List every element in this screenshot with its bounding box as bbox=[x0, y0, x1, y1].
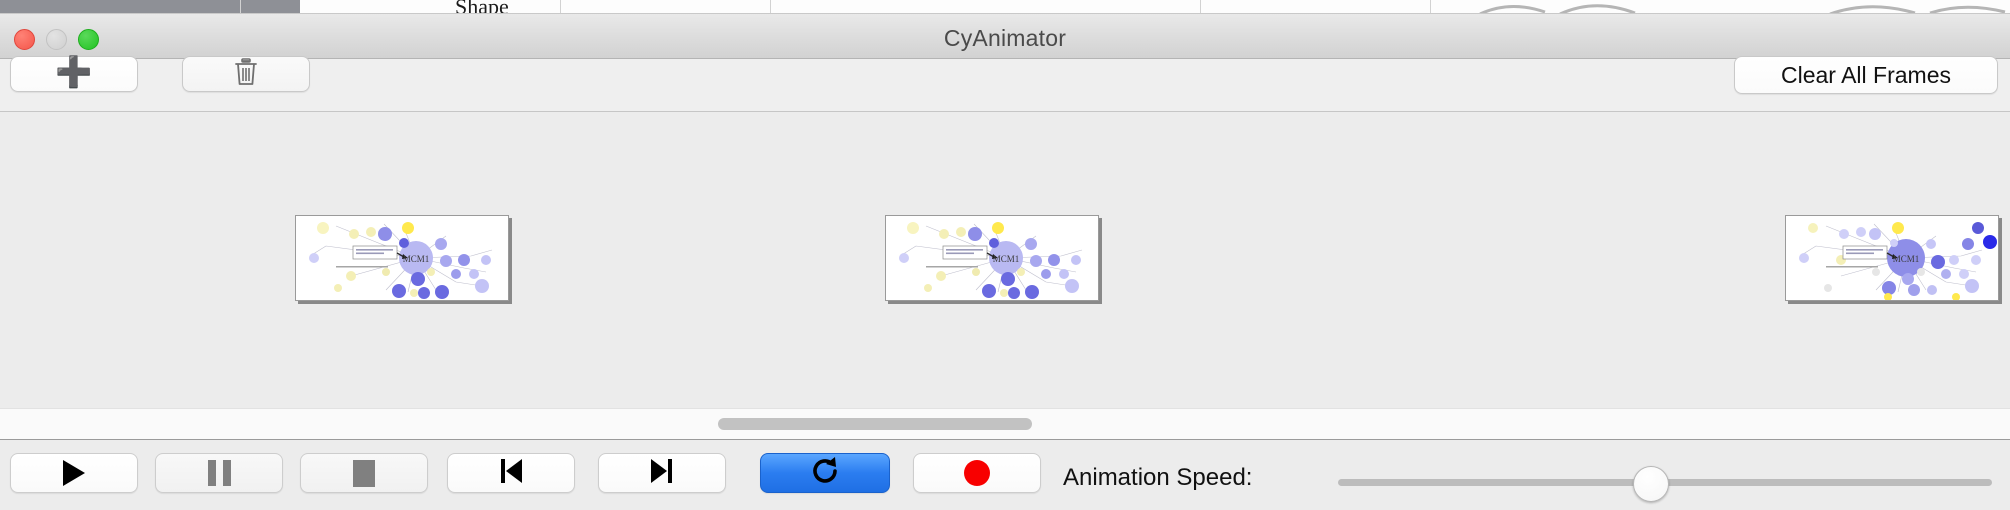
skip-end-icon bbox=[649, 457, 675, 490]
animation-speed-slider-knob[interactable] bbox=[1633, 466, 1669, 502]
playback-controls: Animation Speed: bbox=[0, 440, 2010, 510]
frame-thumbnail[interactable]: MCM1 bbox=[885, 215, 1099, 301]
stop-icon bbox=[353, 460, 375, 487]
timeline-scrollbar[interactable] bbox=[0, 408, 2010, 441]
delete-frame-button[interactable] bbox=[182, 56, 310, 92]
timeline-scrollbar-thumb[interactable] bbox=[718, 418, 1032, 430]
loop-icon bbox=[809, 455, 841, 492]
play-icon bbox=[63, 460, 85, 486]
svg-text:MCM1: MCM1 bbox=[1893, 254, 1920, 264]
title-bar: CyAnimator bbox=[0, 14, 2010, 59]
animation-speed-label: Animation Speed: bbox=[1063, 464, 1252, 492]
frame-thumbnail[interactable]: MCM1 bbox=[295, 215, 509, 301]
add-frame-button[interactable]: ➕ bbox=[10, 56, 138, 92]
play-button[interactable] bbox=[10, 453, 138, 493]
skip-end-button[interactable] bbox=[598, 453, 726, 493]
skip-start-icon bbox=[498, 457, 524, 490]
record-icon bbox=[964, 460, 990, 486]
trash-icon bbox=[233, 57, 259, 92]
svg-text:MCM1: MCM1 bbox=[403, 254, 430, 264]
clear-all-frames-button[interactable]: Clear All Frames bbox=[1734, 56, 1998, 94]
background-network-edges bbox=[0, 0, 2010, 14]
loop-button[interactable] bbox=[760, 453, 890, 493]
pause-button[interactable] bbox=[155, 453, 283, 493]
pause-icon bbox=[208, 460, 231, 486]
frame-thumbnail[interactable]: MCM1 bbox=[1785, 215, 1999, 301]
skip-start-button[interactable] bbox=[447, 453, 575, 493]
record-button[interactable] bbox=[913, 453, 1041, 493]
plus-icon: ➕ bbox=[55, 58, 92, 88]
clear-all-frames-label: Clear All Frames bbox=[1781, 62, 1951, 89]
timeline-panel[interactable]: MCM1 bbox=[0, 112, 2010, 408]
cyanimator-window: Shape CyAnimator ➕ Clear All Frames bbox=[0, 0, 2010, 510]
window-title: CyAnimator bbox=[0, 25, 2010, 52]
stop-button[interactable] bbox=[300, 453, 428, 493]
svg-text:MCM1: MCM1 bbox=[993, 254, 1020, 264]
